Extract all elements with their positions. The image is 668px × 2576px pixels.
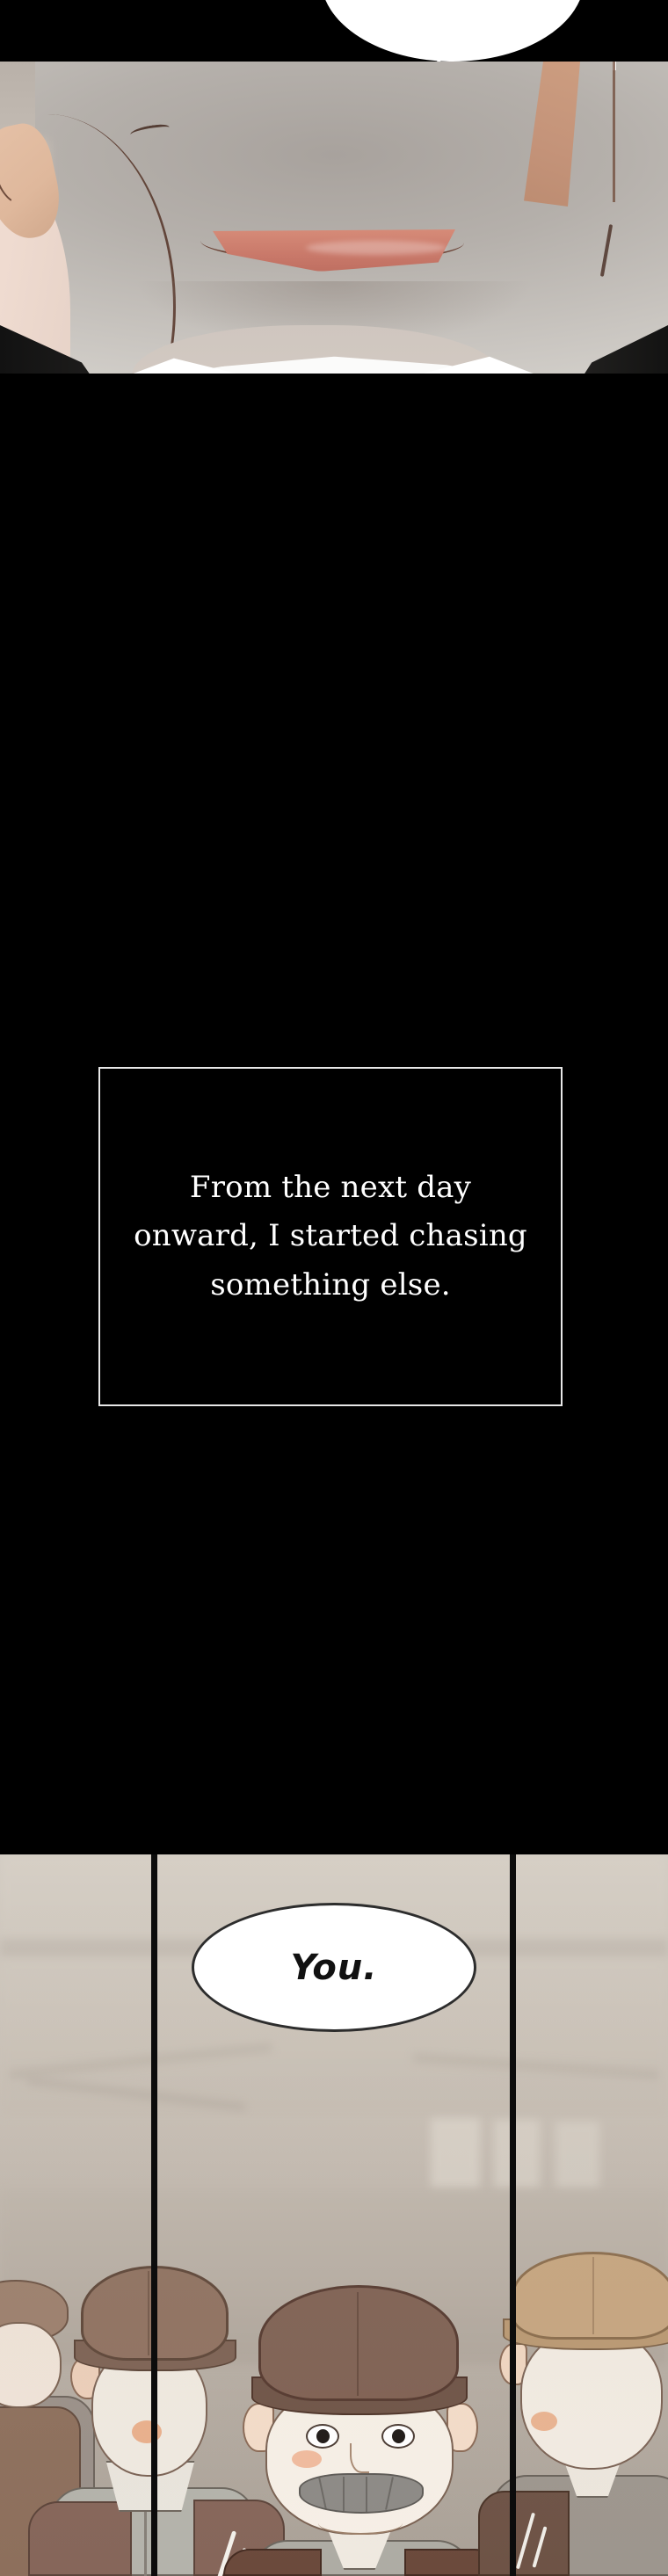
face-nasolabial-crease bbox=[600, 224, 613, 277]
speech-bubble-you-text: You. bbox=[291, 1948, 378, 1988]
worker-right-blush bbox=[531, 2412, 557, 2431]
narration-box: From the next day onward, I started chas… bbox=[98, 1067, 563, 1406]
worker-left-shirt-placket bbox=[144, 2505, 147, 2576]
speech-bubble-you: You. bbox=[192, 1903, 476, 2032]
panel-top-black-gap bbox=[0, 0, 668, 62]
worker-left-cap-seam bbox=[148, 2271, 149, 2355]
old-man-pupil-left bbox=[316, 2429, 330, 2443]
old-man-moustache-hair-2 bbox=[343, 2477, 345, 2512]
panel-closeup-smiling-face bbox=[0, 62, 668, 374]
character-old-man bbox=[227, 2292, 490, 2576]
old-man-chin bbox=[318, 2512, 403, 2535]
old-man-moustache bbox=[299, 2473, 424, 2514]
speech-bubble-partial bbox=[321, 0, 584, 62]
worker-right-face bbox=[520, 2329, 663, 2470]
background-window-2 bbox=[494, 2120, 540, 2188]
panel-divider-right bbox=[510, 1854, 516, 2576]
panel-narration-black: From the next day onward, I started chas… bbox=[0, 374, 668, 1854]
speech-bubble-tail-icon bbox=[436, 35, 442, 62]
narration-text: From the next day onward, I started chas… bbox=[100, 1164, 561, 1309]
panel-divider-left bbox=[151, 1854, 157, 2576]
worker-right-cap-seam bbox=[592, 2257, 594, 2334]
face-smile bbox=[200, 221, 464, 283]
old-man-vest-left bbox=[223, 2549, 322, 2576]
background-window-3 bbox=[555, 2122, 599, 2188]
face-lip-highlight bbox=[306, 241, 447, 255]
webtoon-page: From the next day onward, I started chas… bbox=[0, 0, 668, 2576]
background-window-1 bbox=[431, 2118, 480, 2188]
worker-left-vest-left bbox=[28, 2501, 132, 2576]
worker-right-vest bbox=[478, 2491, 570, 2576]
old-man-cap bbox=[258, 2285, 459, 2401]
face-nose-shadow bbox=[492, 62, 580, 207]
old-man-cheek-blush bbox=[292, 2450, 322, 2468]
old-man-cap-seam bbox=[357, 2292, 359, 2396]
face-eyebrow-tip bbox=[129, 123, 170, 139]
old-man-pupil-right bbox=[392, 2429, 405, 2443]
jacket-shoulder-right bbox=[545, 325, 668, 374]
face-nose-edge-line bbox=[613, 62, 615, 202]
character-worker-left bbox=[35, 2266, 255, 2576]
old-man-moustache-hair-3 bbox=[366, 2477, 367, 2512]
worker-right-flat-cap bbox=[512, 2252, 668, 2340]
